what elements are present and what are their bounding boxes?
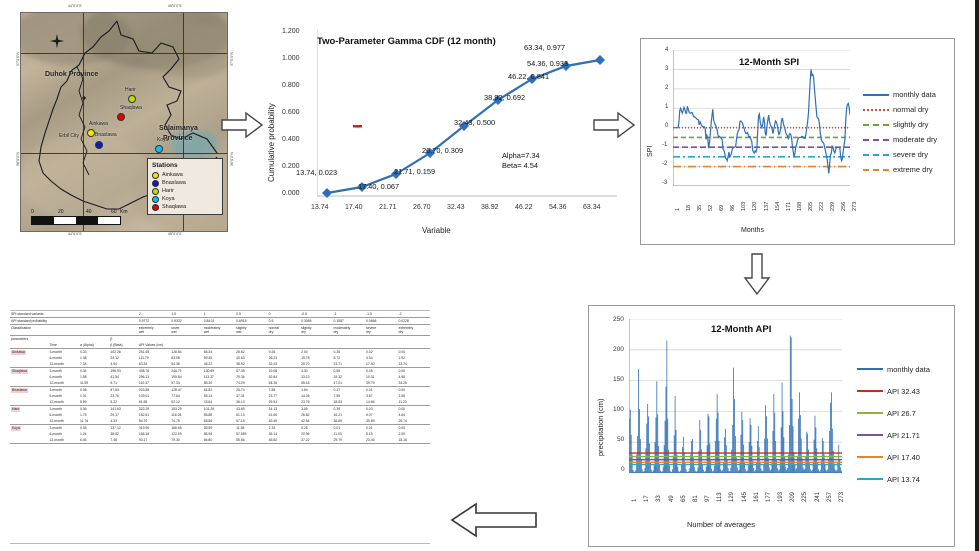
spi-legend-item-4: severe dry bbox=[863, 147, 937, 162]
time-12-month: 12-month bbox=[49, 437, 79, 444]
classification-2: moderatelywet bbox=[203, 325, 235, 336]
spi-xtick-171: 171 bbox=[786, 202, 792, 211]
table-row: 12-month6.467.4893.1779.3066.8055.6645.8… bbox=[10, 437, 430, 444]
legend-item-bnaslawa: Bnaslawa bbox=[152, 179, 218, 187]
city-label-bnaslawa: Bnaslawa bbox=[95, 132, 117, 138]
api-xtick-273: 273 bbox=[839, 492, 845, 502]
api-probability-8: 0.0228 bbox=[397, 318, 430, 325]
legend-label-bnaslawa: Bnaslawa bbox=[162, 179, 186, 187]
api-xtick-129: 129 bbox=[729, 492, 735, 502]
scale-tick-0: 0 bbox=[31, 209, 34, 215]
cdf-x-axis-label: Variable bbox=[422, 226, 451, 235]
spi-chart-panel: 12-Month SPI SPI Months 4 3 2 1 0 -1 -2 … bbox=[640, 38, 955, 245]
api-xtick-1: 1 bbox=[632, 499, 638, 502]
arrow-api-to-table bbox=[448, 500, 538, 540]
classification-1: severwet bbox=[170, 325, 202, 336]
api-legend: monthly data API 32.43 API 26.7 API 21.7… bbox=[857, 358, 930, 490]
coord-top-right: 45°0'0"E bbox=[168, 4, 182, 8]
coord-left-36: 36°0'0"N bbox=[16, 152, 20, 166]
spi-legend-label-0: monthly data bbox=[893, 90, 936, 99]
station-dot-ainkawa bbox=[87, 129, 95, 137]
spi-legend-label-3: moderate dry bbox=[893, 135, 937, 144]
spi-xtick-86: 86 bbox=[730, 205, 736, 211]
station-dot-harir bbox=[128, 95, 136, 103]
api-x-axis-label: Number of averages bbox=[687, 520, 755, 529]
cdf-xtick-1: 13.74 bbox=[311, 204, 329, 211]
spi-xtick-69: 69 bbox=[719, 205, 725, 211]
map-image: Duhok Province Sulaimanya Province Harir… bbox=[20, 12, 228, 232]
api-ytick-150: 150 bbox=[613, 376, 624, 383]
api-value-5: 37.22 bbox=[300, 437, 332, 444]
api-xtick-81: 81 bbox=[693, 495, 699, 502]
cdf-ytick-0400: 0.400 bbox=[282, 136, 300, 143]
api-legend-line-4 bbox=[857, 456, 883, 458]
station-name-koya bbox=[10, 437, 49, 444]
scale-tick-20: 20 bbox=[58, 209, 64, 215]
api-xtick-161: 161 bbox=[754, 492, 760, 502]
cdf-point-label-3: 21.71, 0.159 bbox=[394, 167, 435, 176]
province-label-sulaimanya: Sulaimanya bbox=[159, 125, 198, 132]
api-xtick-225: 225 bbox=[802, 492, 808, 502]
spi-legend-item-1: normal dry bbox=[863, 102, 937, 117]
row-label-classification: Classification bbox=[10, 325, 138, 336]
api-chart-panel: 12-Month API precipitation (cm) Number o… bbox=[588, 305, 955, 547]
city-label-koya: Koya bbox=[157, 137, 168, 143]
spi-legend-label-5: extreme dry bbox=[893, 165, 933, 174]
city-label-ainkawa: Ainkawa bbox=[89, 121, 108, 127]
api-x-ticks: 1173349658197113129145161177193209225241… bbox=[629, 478, 842, 512]
spi-legend-item-2: slightly dry bbox=[863, 117, 937, 132]
spi-legend-item-0: monthly data bbox=[863, 87, 937, 102]
legend-swatch-koya bbox=[152, 196, 159, 203]
spi-legend-label-2: slightly dry bbox=[893, 120, 928, 129]
cdf-parameters: Alpha=7.34 Beta= 4.54 bbox=[502, 151, 540, 171]
api-probability-6: 0.1587 bbox=[333, 318, 365, 325]
station-dot-koya bbox=[155, 145, 163, 153]
api-xtick-97: 97 bbox=[705, 495, 711, 502]
spi-xtick-103: 103 bbox=[741, 202, 747, 211]
cdf-xtick-5: 32.43 bbox=[447, 204, 465, 211]
cdf-beta: Beta= 4.54 bbox=[502, 161, 540, 171]
api-xtick-257: 257 bbox=[827, 492, 833, 502]
api-value-8: 18.16 bbox=[397, 437, 430, 444]
spi-ytick-2: 2 bbox=[665, 85, 668, 91]
api-legend-label-5: API 13.74 bbox=[887, 475, 920, 484]
beta-value: 7.48 bbox=[109, 437, 137, 444]
classification-4: normaldry bbox=[268, 325, 300, 336]
arrow-spi-to-api bbox=[742, 252, 772, 296]
cdf-xtick-8: 54.36 bbox=[549, 204, 567, 211]
api-xtick-177: 177 bbox=[766, 492, 772, 502]
scale-tick-40: 40 bbox=[86, 209, 92, 215]
cdf-chart: Two-Parameter Gamma CDF (12 month) Cumul… bbox=[262, 10, 634, 242]
api-legend-line-0 bbox=[857, 368, 883, 370]
coord-left-37: 37°0'0"N bbox=[16, 52, 20, 66]
spi-xtick-137: 137 bbox=[764, 202, 770, 211]
api-ytick-0: 0 bbox=[621, 466, 625, 473]
spi-xtick-205: 205 bbox=[808, 202, 814, 211]
cdf-xtick-7: 46.22 bbox=[515, 204, 533, 211]
cdf-ytick-0000: 0.000 bbox=[282, 190, 300, 197]
spi-xtick-154: 154 bbox=[775, 202, 781, 211]
spi-xtick-273: 273 bbox=[852, 202, 858, 211]
legend-label-shaqlawa: Shaqlawa bbox=[162, 203, 186, 211]
spi-xtick-35: 35 bbox=[697, 205, 703, 211]
cdf-ytick-1200: 1.200 bbox=[282, 28, 300, 35]
api-probability-7: 0.0668 bbox=[365, 318, 397, 325]
api-value-0: 93.17 bbox=[138, 437, 170, 444]
scale-unit: Km bbox=[120, 209, 128, 215]
legend-item-ainkawa: Ainkawa bbox=[152, 171, 218, 179]
spi-ytick-1: 1 bbox=[665, 104, 668, 110]
province-label-duhok: Duhok Province bbox=[45, 71, 98, 78]
spi-xtick-256: 256 bbox=[841, 202, 847, 211]
classification-7: severedry bbox=[365, 325, 397, 336]
api-legend-item-0: monthly data bbox=[857, 358, 930, 380]
cdf-point-label-9: 63.34, 0.977 bbox=[524, 43, 565, 52]
api-xtick-113: 113 bbox=[717, 492, 723, 502]
api-plot bbox=[629, 319, 842, 473]
map-legend-title: Stations bbox=[152, 162, 218, 169]
api-ytick-250: 250 bbox=[613, 316, 624, 323]
api-probability-4: 0.5 bbox=[268, 318, 300, 325]
legend-item-harir: Harir bbox=[152, 187, 218, 195]
classification-3: slightlywet bbox=[235, 325, 267, 336]
api-value-2: 66.80 bbox=[203, 437, 235, 444]
api-probability-0: 0.9772 bbox=[138, 318, 170, 325]
alpha-value: 6.46 bbox=[79, 437, 109, 444]
spi-legend-line-1 bbox=[863, 109, 889, 111]
spi-y-axis-label: SPI bbox=[647, 146, 654, 157]
north-arrow-icon bbox=[49, 33, 65, 49]
api-xtick-65: 65 bbox=[681, 495, 687, 502]
cdf-point-label-7: 46.22, 0.841 bbox=[508, 72, 549, 81]
api-probability-5: 0.3085 bbox=[300, 318, 332, 325]
api-xtick-241: 241 bbox=[815, 492, 821, 502]
cdf-xtick-9: 63.34 bbox=[583, 204, 601, 211]
coord-bottom-left: 44°0'0"E bbox=[68, 232, 82, 236]
classification-0: extremelywet bbox=[138, 325, 170, 336]
spi-ytick-4: 4 bbox=[665, 47, 668, 53]
spi-xtick-52: 52 bbox=[708, 205, 714, 211]
spi-xtick-188: 188 bbox=[797, 202, 803, 211]
spi-xtick-222: 222 bbox=[819, 202, 825, 211]
spi-legend-label-1: normal dry bbox=[893, 105, 928, 114]
cdf-xtick-6: 38.92 bbox=[481, 204, 499, 211]
map-scale-bar: 0 20 40 60 Km bbox=[31, 209, 127, 225]
api-xtick-209: 209 bbox=[790, 492, 796, 502]
legend-swatch-bnaslawa bbox=[152, 180, 159, 187]
api-value-3: 55.66 bbox=[235, 437, 267, 444]
arrow-map-to-cdf bbox=[220, 110, 264, 140]
coord-top-left: 44°0'0"E bbox=[68, 4, 82, 8]
spi-legend-line-3 bbox=[863, 139, 889, 141]
legend-label-harir: Harir bbox=[162, 187, 174, 195]
api-xtick-33: 33 bbox=[656, 495, 662, 502]
spi-ytick-0: 0 bbox=[665, 123, 668, 129]
api-legend-item-3: API 21.71 bbox=[857, 424, 930, 446]
spi-api-parameter-table: SPI standard variants21.510.50-0.5-1-1.5… bbox=[10, 310, 430, 544]
api-legend-item-4: API 17.40 bbox=[857, 446, 930, 468]
spi-legend-item-5: extreme dry bbox=[863, 162, 937, 177]
api-probability-3: 0.6915 bbox=[235, 318, 267, 325]
api-legend-label-0: monthly data bbox=[887, 365, 930, 374]
spi-legend-label-4: severe dry bbox=[893, 150, 928, 159]
api-xtick-193: 193 bbox=[778, 492, 784, 502]
station-dot-shaqlawa bbox=[117, 113, 125, 121]
legend-item-shaqlawa: Shaqlawa bbox=[152, 203, 218, 211]
api-value-4: 45.82 bbox=[268, 437, 300, 444]
arrow-cdf-to-spi bbox=[592, 110, 636, 140]
api-legend-item-1: API 32.43 bbox=[857, 380, 930, 402]
spi-legend-line-2 bbox=[863, 124, 889, 126]
city-label-erbil: Erbil City bbox=[59, 133, 79, 139]
classification-6: moderatelydry bbox=[333, 325, 365, 336]
spi-x-axis-label: Months bbox=[741, 227, 764, 234]
scale-tick-60: 60 bbox=[111, 209, 117, 215]
api-value-6: 29.79 bbox=[333, 437, 365, 444]
cdf-y-axis-label: Cumulative probability bbox=[267, 103, 276, 182]
table-row: API standard probability0.97720.93320.84… bbox=[10, 318, 430, 325]
spi-legend-line-5 bbox=[863, 169, 889, 171]
parameter-table-body: SPI standard variants21.510.50-0.5-1-1.5… bbox=[10, 311, 430, 444]
cdf-xtick-3: 21.71 bbox=[379, 204, 397, 211]
row-label-api-probability: API standard probability bbox=[10, 318, 138, 325]
cdf-point-label-5: 32.43, 0.500 bbox=[454, 118, 495, 127]
spi-plot bbox=[673, 50, 850, 186]
spi-xtick-239: 239 bbox=[830, 202, 836, 211]
legend-swatch-harir bbox=[152, 188, 159, 195]
parameter-table: SPI standard variants21.510.50-0.5-1-1.5… bbox=[10, 311, 430, 444]
spi-ytick-m3: -3 bbox=[662, 180, 667, 186]
city-label-harir: Harir bbox=[125, 87, 136, 93]
cdf-point-label-6: 38.92, 0.692 bbox=[484, 93, 525, 102]
api-legend-item-2: API 26.7 bbox=[857, 402, 930, 424]
station-dot-bnaslawa bbox=[95, 141, 103, 149]
api-probability-1: 0.9332 bbox=[170, 318, 202, 325]
api-ytick-50: 50 bbox=[617, 436, 624, 443]
figure-canvas: Duhok Province Sulaimanya Province Harir… bbox=[0, 0, 979, 551]
spi-xtick-1: 1 bbox=[675, 208, 681, 211]
spi-xtick-18: 18 bbox=[686, 205, 692, 211]
study-area-map: Duhok Province Sulaimanya Province Harir… bbox=[6, 4, 234, 240]
api-legend-item-5: API 13.74 bbox=[857, 468, 930, 490]
cdf-xtick-4: 26.70 bbox=[413, 204, 431, 211]
api-legend-line-1 bbox=[857, 390, 883, 392]
cdf-alpha: Alpha=7.34 bbox=[502, 151, 540, 161]
legend-item-koya: Koya bbox=[152, 195, 218, 203]
spi-ytick-3: 3 bbox=[665, 66, 668, 72]
spi-legend-item-3: moderate dry bbox=[863, 132, 937, 147]
api-legend-line-2 bbox=[857, 412, 883, 414]
api-y-axis-label: precipitation (cm) bbox=[596, 398, 605, 456]
cdf-ytick-0800: 0.800 bbox=[282, 82, 300, 89]
api-ytick-100: 100 bbox=[613, 406, 624, 413]
spi-legend-line-4 bbox=[863, 154, 889, 156]
classification-5: slightlydry bbox=[300, 325, 332, 336]
cdf-ytick-0600: 0.600 bbox=[282, 109, 300, 116]
cdf-point-label-2: 17.40, 0.067 bbox=[358, 182, 399, 191]
city-label-shaqlawa: Shaqlawa bbox=[120, 105, 142, 111]
spi-xtick-120: 120 bbox=[752, 202, 758, 211]
coord-right-37: 37°0'0"N bbox=[230, 52, 234, 66]
api-legend-line-5 bbox=[857, 478, 883, 480]
spi-ytick-m2: -2 bbox=[662, 161, 667, 167]
api-legend-label-1: API 32.43 bbox=[887, 387, 920, 396]
legend-label-ainkawa: Ainkawa bbox=[162, 171, 183, 179]
api-value-7: 23.46 bbox=[365, 437, 397, 444]
cdf-point-label-4: 26.70, 0.309 bbox=[422, 146, 463, 155]
spi-x-ticks: 1183552698610312013715417118820522223925… bbox=[673, 189, 850, 221]
api-value-1: 79.30 bbox=[170, 437, 202, 444]
classification-8: extremelydry bbox=[397, 325, 430, 336]
table-row: Classificationextremelywetseverwetmodera… bbox=[10, 325, 430, 336]
cdf-xtick-2: 17.40 bbox=[345, 204, 363, 211]
api-probability-2: 0.8413 bbox=[203, 318, 235, 325]
api-legend-label-3: API 21.71 bbox=[887, 431, 920, 440]
legend-swatch-ainkawa bbox=[152, 172, 159, 179]
api-legend-label-2: API 26.7 bbox=[887, 409, 916, 418]
cdf-point-label-8: 54.36, 0.933 bbox=[527, 59, 568, 68]
api-legend-label-4: API 17.40 bbox=[887, 453, 920, 462]
api-xtick-145: 145 bbox=[742, 492, 748, 502]
cdf-plot bbox=[317, 30, 617, 200]
spi-legend: monthly data normal dry slightly dry mod… bbox=[863, 87, 937, 177]
spi-ytick-m1: -1 bbox=[662, 142, 667, 148]
api-ytick-200: 200 bbox=[613, 346, 624, 353]
spi-legend-line-0 bbox=[863, 94, 889, 96]
legend-label-koya: Koya bbox=[162, 195, 175, 203]
coord-bottom-right: 45°0'0"E bbox=[168, 232, 182, 236]
cdf-point-label-1: 13.74, 0.023 bbox=[296, 168, 337, 177]
cdf-ytick-1000: 1.000 bbox=[282, 55, 300, 62]
api-xtick-49: 49 bbox=[669, 495, 675, 502]
legend-swatch-shaqlawa bbox=[152, 204, 159, 211]
api-legend-line-3 bbox=[857, 434, 883, 436]
api-xtick-17: 17 bbox=[644, 495, 650, 502]
coord-right-36: 36°0'0"N bbox=[230, 152, 234, 166]
map-legend: Stations Ainkawa Bnaslawa Harir Koya Sha… bbox=[147, 158, 223, 215]
